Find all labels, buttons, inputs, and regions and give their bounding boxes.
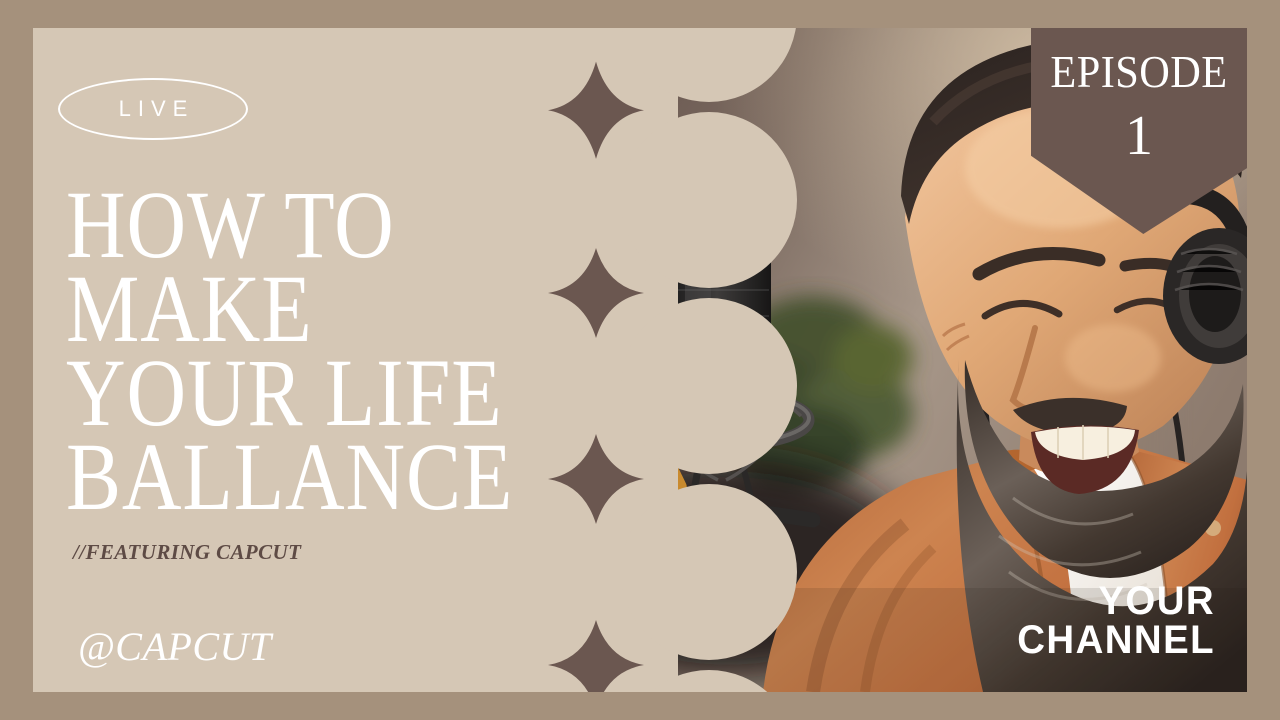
channel-line-2: CHANNEL — [1017, 621, 1215, 660]
live-badge[interactable]: LIVE — [58, 78, 248, 140]
episode-badge: EPISODE 1 — [1031, 28, 1247, 234]
channel-line-1: YOUR — [1017, 582, 1215, 621]
channel-name: YOUR CHANNEL — [1009, 582, 1215, 660]
social-handle: @CAPCUT — [78, 623, 272, 670]
episode-number: 1 — [1031, 106, 1247, 166]
episode-label: EPISODE — [1040, 46, 1239, 98]
headline: HOW TO MAKE YOUR LIFE BALLANCE — [66, 183, 586, 519]
live-badge-label: LIVE — [112, 96, 195, 122]
featuring-caption: //FEATURING CAPCUT — [73, 540, 301, 565]
thumbnail-card: LIVE HOW TO MAKE YOUR LIFE BALLANCE //FE… — [33, 28, 1247, 692]
headline-line-4: BALLANCE — [66, 435, 513, 519]
